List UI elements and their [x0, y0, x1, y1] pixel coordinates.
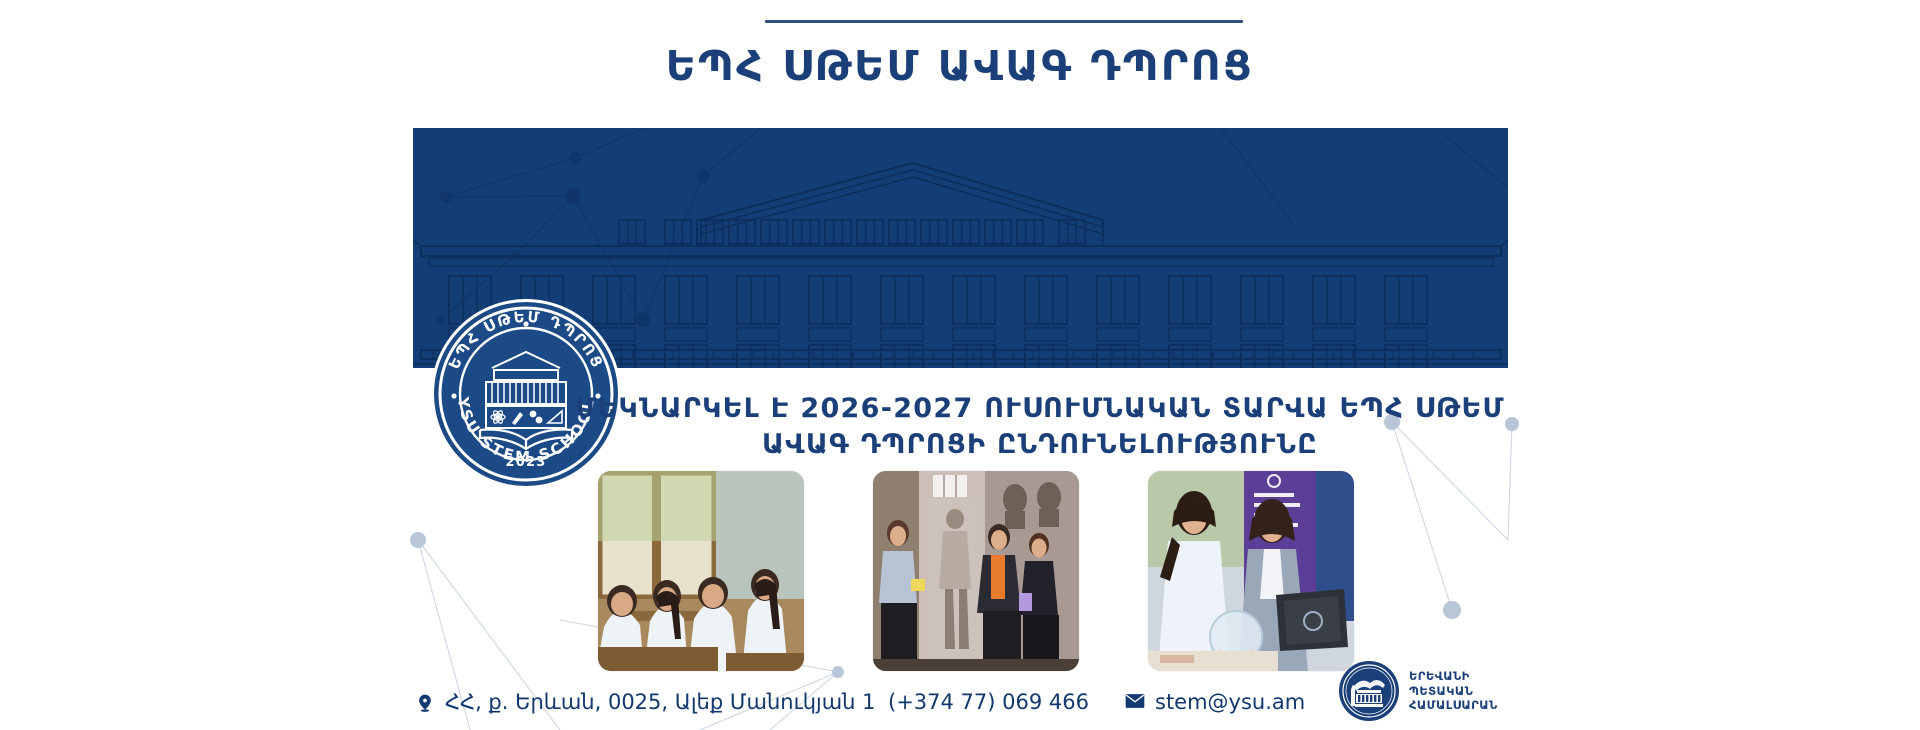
email-label: stem@ysu.am — [1155, 690, 1305, 714]
contact-phone[interactable]: (+374 77) 069 466 — [888, 690, 1089, 714]
svg-text:2023: 2023 — [506, 455, 547, 470]
photo-students-at-museum-exhibit — [873, 471, 1079, 671]
ysu-logo-line-3: ՀԱՄԱԼՍԱՐԱՆ — [1409, 698, 1498, 713]
footer-contacts: ՀՀ, ք. Երևան, 0025, Ալեք Մանուկյան 1 (+3… — [0, 690, 1920, 730]
photo-students-at-science-fair-booth — [1148, 471, 1354, 671]
contact-email[interactable]: stem@ysu.am — [1125, 690, 1305, 714]
address-label: ՀՀ, ք. Երևան, 0025, Ալեք Մանուկյան 1 — [445, 690, 876, 714]
page-title: ԵՊՀ ՍԹԵՄ ԱՎԱԳ ԴՊՐՈՑ — [0, 44, 1920, 89]
photo-students-in-classroom — [598, 471, 804, 671]
headline-line-1: ՄԵԿՆԱՐԿԵԼ Է 2026-2027 ՈՒՍՈՒՄՆԱԿԱՆ ՏԱՐՎԱ … — [575, 393, 1505, 424]
contact-address[interactable]: ՀՀ, ք. Երևան, 0025, Ալեք Մանուկյան 1 — [415, 690, 876, 714]
location-pin-icon — [415, 693, 435, 713]
top-divider-rule — [765, 20, 1243, 23]
headline-line-2: ԱՎԱԳ ԴՊՐՈՑԻ ԸՆԴՈՒՆԵԼՈՒԹՅՈՒՆԸ — [560, 427, 1520, 463]
poster-page: ԵՊՀ ՍԹԵՄ ԱՎԱԳ ԴՊՐՈՑ — [0, 0, 1920, 730]
phone-label: (+374 77) 069 466 — [888, 690, 1089, 714]
ysu-logo-text: ԵՐԵՎԱՆԻ ՊԵՏԱԿԱՆ ՀԱՄԱԼՍԱՐԱՆ — [1409, 669, 1498, 713]
ysu-logo-line-1: ԵՐԵՎԱՆԻ — [1409, 669, 1498, 684]
announcement-headline: ՄԵԿՆԱՐԿԵԼ Է 2026-2027 ՈՒՍՈՒՄՆԱԿԱՆ ՏԱՐՎԱ … — [560, 391, 1520, 462]
ysu-crest-icon — [1338, 660, 1400, 722]
ysu-university-logo: ԵՐԵՎԱՆԻ ՊԵՏԱԿԱՆ ՀԱՄԱԼՍԱՐԱՆ — [1338, 655, 1523, 727]
ysu-logo-line-2: ՊԵՏԱԿԱՆ — [1409, 684, 1498, 699]
envelope-icon — [1125, 693, 1145, 713]
photo-strip — [598, 471, 1338, 671]
